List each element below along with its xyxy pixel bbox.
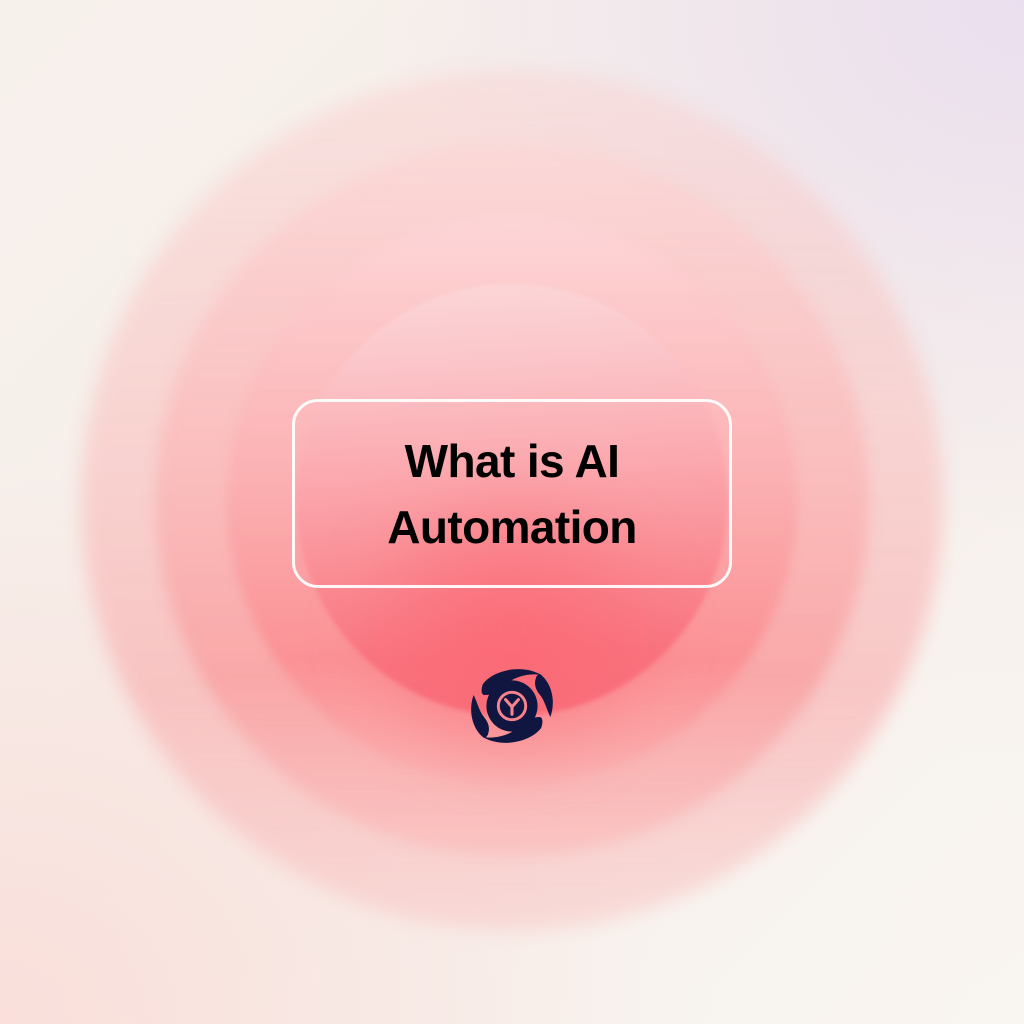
poster-canvas: What is AI Automation [0, 0, 1024, 1024]
brand-logo [466, 664, 558, 748]
page-title: What is AI Automation [369, 428, 655, 560]
title-card: What is AI Automation [292, 399, 732, 588]
